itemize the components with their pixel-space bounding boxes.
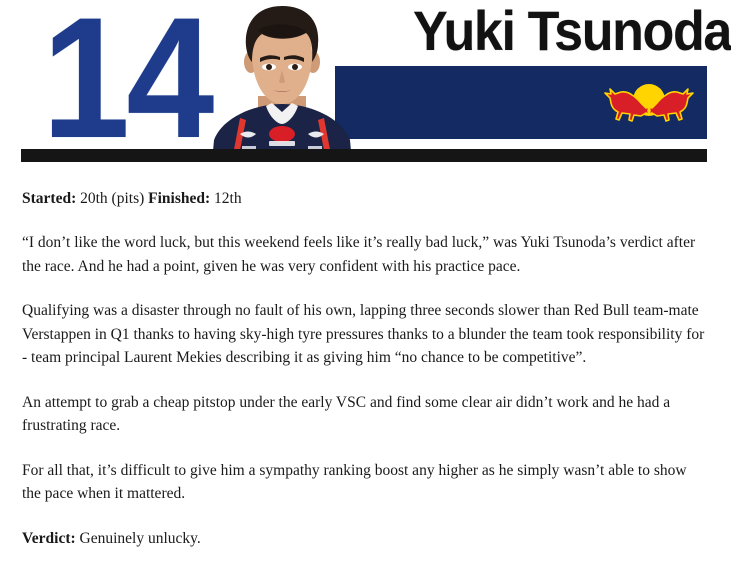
- finished-value: 12th: [214, 190, 242, 207]
- verdict-line: Verdict: Genuinely unlucky.: [22, 527, 709, 551]
- driver-name: Yuki Tsunoda: [413, 2, 731, 60]
- article-paragraph: “I don’t like the word luck, but this we…: [22, 231, 709, 278]
- race-number: 14: [42, 0, 211, 164]
- started-value: 20th (pits): [80, 190, 144, 207]
- driver-portrait: [196, 0, 368, 162]
- finished-label: Finished:: [148, 190, 210, 207]
- race-result-line: Started: 20th (pits) Finished: 12th: [22, 188, 709, 210]
- verdict-text: Genuinely unlucky.: [80, 530, 201, 547]
- article-paragraph: For all that, it’s difficult to give him…: [22, 459, 709, 506]
- red-bull-logo: [600, 76, 698, 126]
- header-divider-rule: [21, 149, 707, 162]
- driver-header: 14 Yuki Tsunoda: [0, 0, 731, 172]
- article-paragraph: Qualifying was a disaster through no fau…: [22, 299, 709, 370]
- article-body: Started: 20th (pits) Finished: 12th “I d…: [0, 172, 731, 550]
- article-paragraph: An attempt to grab a cheap pitstop under…: [22, 391, 709, 438]
- verdict-label: Verdict:: [22, 530, 76, 547]
- started-label: Started:: [22, 190, 76, 207]
